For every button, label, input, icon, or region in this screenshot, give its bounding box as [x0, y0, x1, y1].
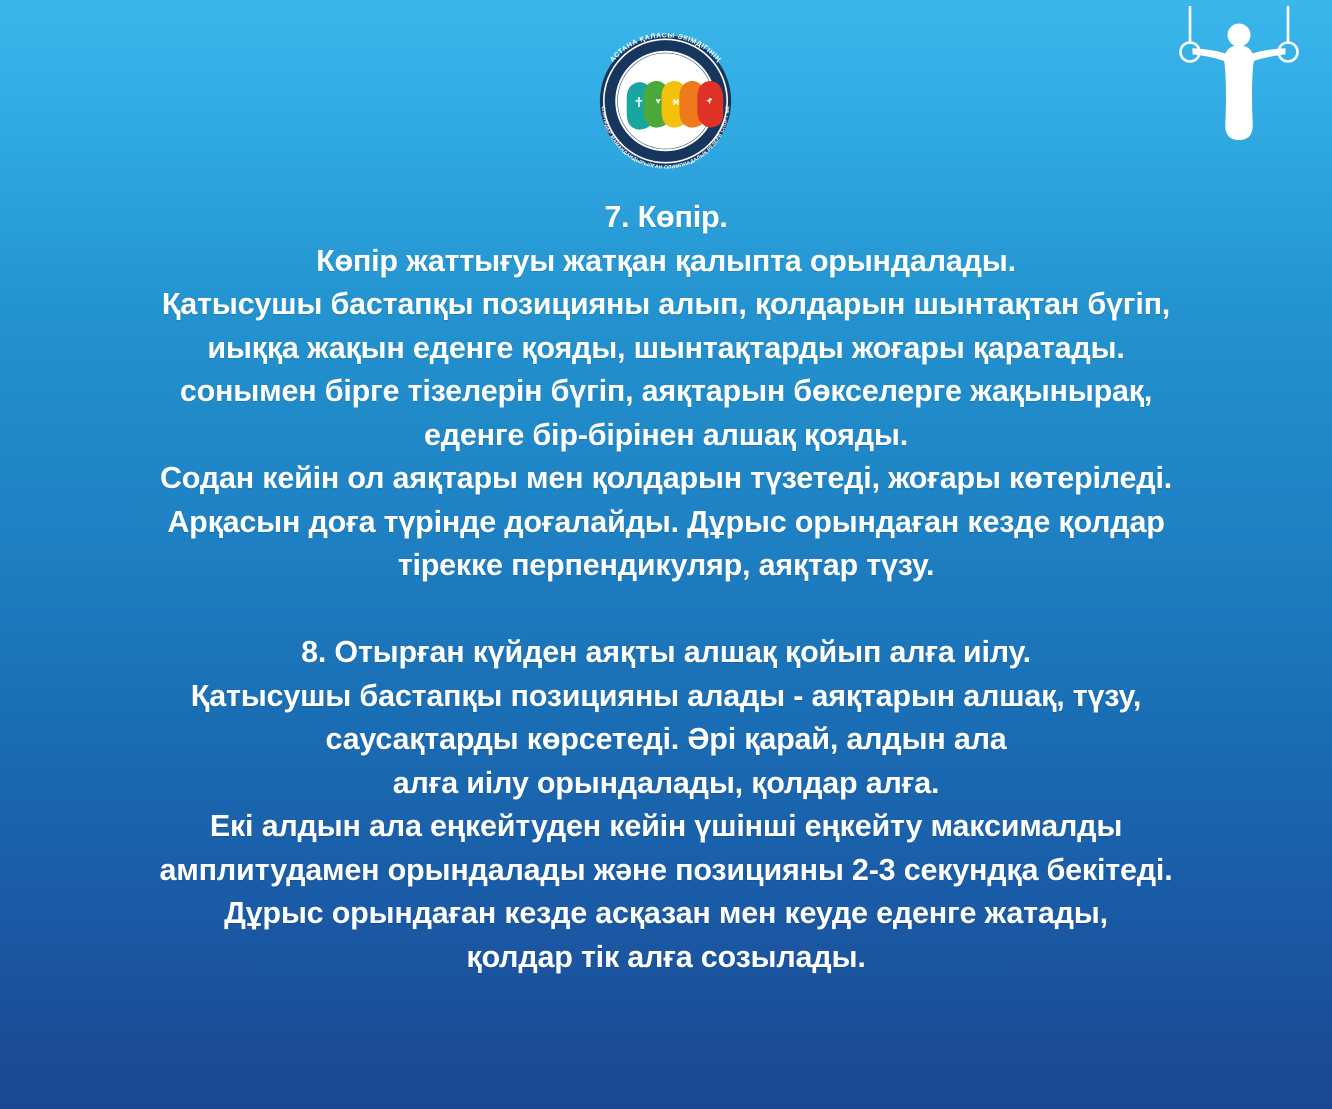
section-8-line-7: қолдар тік алға созылады.	[14, 936, 1318, 980]
section-7-line-7: Арқасын доға түрінде доғалайды. Дұрыс ор…	[14, 501, 1318, 545]
section-8-line-3: алға иілу орындалады, қолдар алға.	[14, 762, 1318, 806]
gymnast-rings-icon	[1164, 0, 1314, 150]
section-7-line-4: сонымен бірге тізелерін бүгіп, аяқтарын …	[14, 370, 1318, 414]
section-7-line-1: Көпір жаттығуы жатқан қалыпта орындалады…	[14, 240, 1318, 284]
section-7: 7. Көпір. Көпір жаттығуы жатқан қалыпта …	[14, 196, 1318, 588]
astana-sports-school-emblem: АСТАНА ҚАЛАСЫ ӘКІМДІГІНІҢ ЖАСӨСПІРІМДЕР …	[566, 33, 765, 169]
section-8-heading: 8. Отырған күйден аяқты алшақ қойып алға…	[14, 631, 1318, 675]
section-7-line-3: иыққа жақын еденге қояды, шынтақтарды жо…	[14, 327, 1318, 371]
section-8-line-1: Қатысушы бастапқы позицияны алады - аяқт…	[14, 675, 1318, 719]
section-7-line-8: тірекке перпендикуляр, аяқтар түзу.	[14, 544, 1318, 588]
section-7-line-6: Содан кейін ол аяқтары мен қолдарын түзе…	[14, 457, 1318, 501]
section-8-line-2: саусақтарды көрсетеді. Әрі қарай, алдын …	[14, 718, 1318, 762]
section-7-line-2: Қатысушы бастапқы позицияны алып, қолдар…	[14, 283, 1318, 327]
section-8-line-5: амплитудамен орындалады және позицияны 2…	[14, 849, 1318, 893]
slide-text-body: 7. Көпір. Көпір жаттығуы жатқан қалыпта …	[0, 196, 1332, 979]
section-8-line-4: Екі алдын ала еңкейтуден кейін үшінші ең…	[14, 805, 1318, 849]
section-7-heading: 7. Көпір.	[14, 196, 1318, 240]
section-8-line-6: Дұрыс орындаған кезде асқазан мен кеуде …	[14, 892, 1318, 936]
section-7-line-5: еденге бір-бірінен алшақ қояды.	[14, 414, 1318, 458]
emblem-ribbon-wave	[627, 81, 724, 130]
section-8: 8. Отырған күйден аяқты алшақ қойып алға…	[14, 631, 1318, 979]
slide-canvas: АСТАНА ҚАЛАСЫ ӘКІМДІГІНІҢ ЖАСӨСПІРІМДЕР …	[0, 0, 1332, 1109]
paragraph-spacer	[14, 588, 1318, 632]
gymnast-figure	[1193, 24, 1286, 141]
